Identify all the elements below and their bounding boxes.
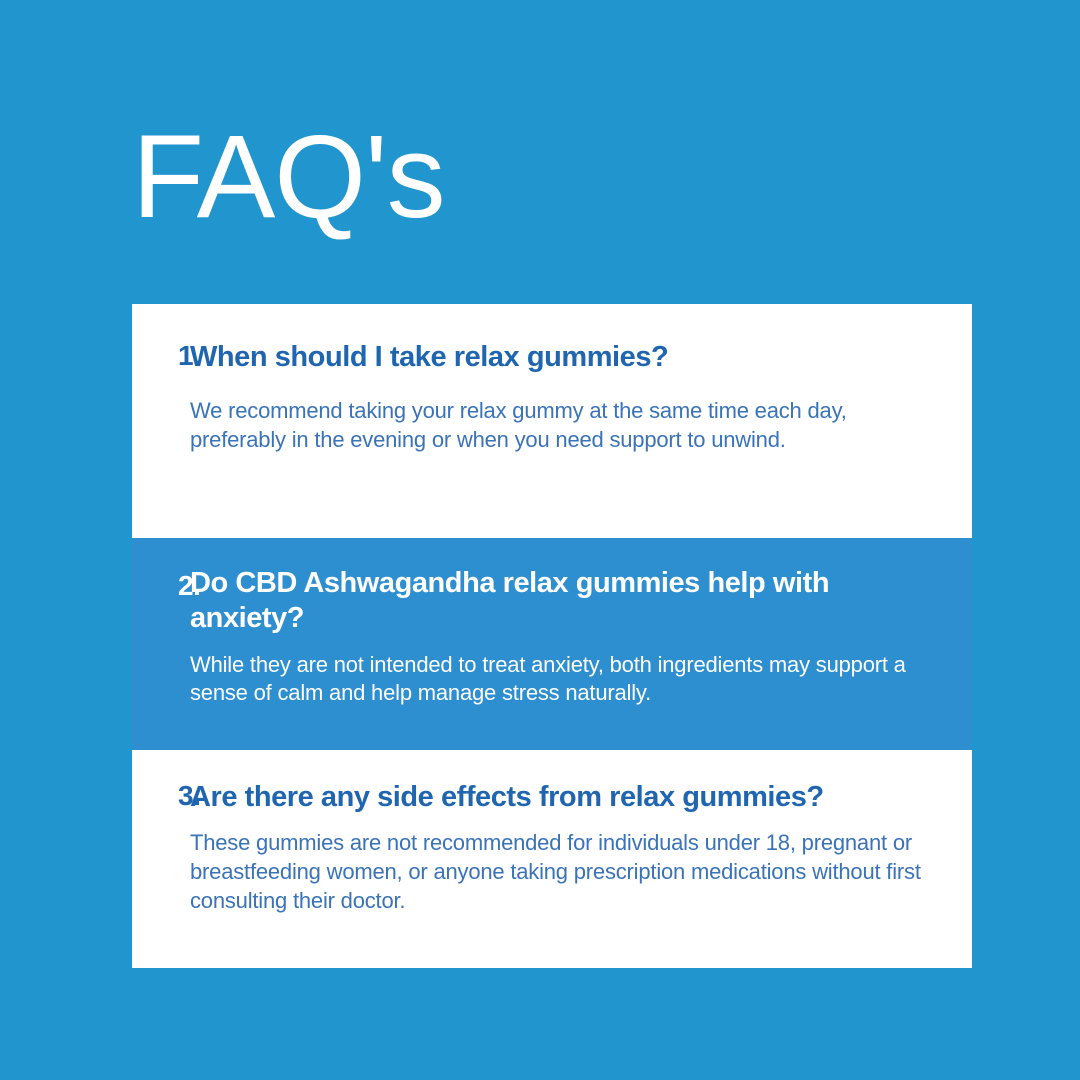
faq-item-number: 1. <box>132 340 184 370</box>
faq-item-body: Do CBD Ashwagandha relax gummies help wi… <box>184 566 972 708</box>
faq-question: When should I take relax gummies? <box>190 340 932 375</box>
faq-item-body: When should I take relax gummies? We rec… <box>184 340 972 455</box>
faq-question: Do CBD Ashwagandha relax gummies help wi… <box>190 566 932 637</box>
page-title: FAQ's <box>132 118 445 236</box>
faq-item-number: 2. <box>132 566 184 600</box>
faq-item[interactable]: 1. When should I take relax gummies? We … <box>132 304 972 538</box>
faq-item-body: Are there any side effects from relax gu… <box>184 780 972 915</box>
faq-item-number: 3. <box>132 780 184 810</box>
faq-list: 1. When should I take relax gummies? We … <box>132 304 972 968</box>
faq-question: Are there any side effects from relax gu… <box>190 780 932 815</box>
faq-answer: These gummies are not recommended for in… <box>190 829 932 915</box>
faq-item[interactable]: 2. Do CBD Ashwagandha relax gummies help… <box>132 538 972 750</box>
faq-answer: We recommend taking your relax gummy at … <box>190 397 932 454</box>
faq-answer: While they are not intended to treat anx… <box>190 651 932 708</box>
faq-item[interactable]: 3. Are there any side effects from relax… <box>132 750 972 968</box>
